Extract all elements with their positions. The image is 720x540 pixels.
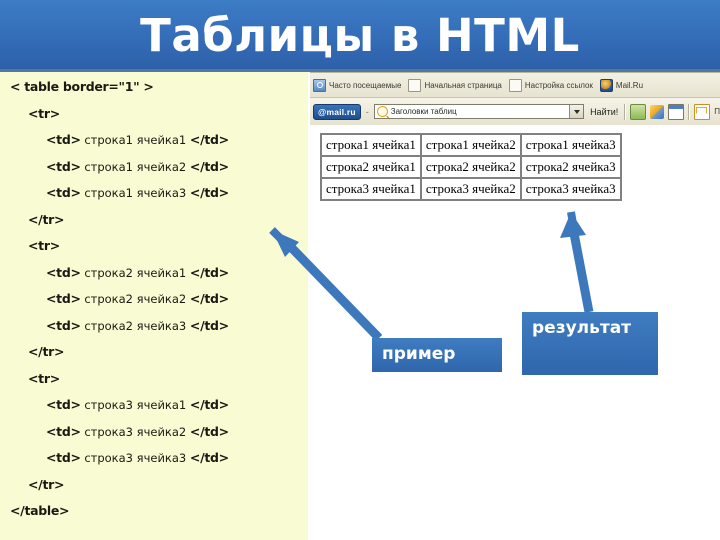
code-line: <td> строка1 ячейка1 </td> [0,133,308,147]
code-line: </tr> [0,213,308,227]
toolbar-divider [688,104,690,120]
code-line: </tr> [0,345,308,359]
code-line: <td> строка3 ячейка2 </td> [0,425,308,439]
code-text: строка1 ячейка3 [81,186,190,200]
code-tag: <td> [46,397,81,412]
page-title: Таблицы в HTML [0,3,720,69]
search-dropdown-button[interactable] [569,105,583,118]
code-tag-end: </td> [190,291,229,306]
chevron-down-icon [574,110,580,114]
table-cell: строка3 ячейка3 [521,178,621,200]
code-example-panel: < table border="1" ><tr><td> строка1 яче… [0,72,308,540]
bookmark-label: Начальная страница [424,81,501,90]
code-tag: <tr> [28,106,60,121]
callout-example: пример [372,338,502,372]
code-tag: <tr> [28,238,60,253]
search-toolbar[interactable]: @mail.ru - Заголовки таблиц Найти! П [310,98,720,125]
code-text: строка3 ячейка2 [81,425,190,439]
rendered-result-table: строка1 ячейка1строка1 ячейка2строка1 яч… [320,133,622,201]
code-tag: </tr> [28,477,64,492]
envelope-icon[interactable] [694,104,710,120]
code-line: <td> строка3 ячейка1 </td> [0,398,308,412]
code-tag: < table border="1" > [10,79,154,94]
toolbar-tail-label: П [714,107,720,116]
bookmark-item-frequent[interactable]: Часто посещаемые [313,79,401,92]
callout-result: результат [522,312,658,375]
table-body: строка1 ячейка1строка1 ячейка2строка1 яч… [321,134,621,200]
bookmark-item-mailru[interactable]: Mail.Ru [600,79,643,92]
bookmark-label: Mail.Ru [616,81,643,90]
toolbar-separator: - [365,107,370,117]
code-line: </tr> [0,478,308,492]
code-line: <td> строка2 ячейка1 </td> [0,266,308,280]
mailru-icon [600,79,613,92]
code-tag: <td> [46,318,81,333]
table-cell: строка2 ячейка2 [421,156,521,178]
table-row: строка3 ячейка1строка3 ячейка2строка3 яч… [321,178,621,200]
page-icon [408,79,421,92]
table-cell: строка3 ячейка1 [321,178,421,200]
code-tag: <td> [46,132,81,147]
table-cell: строка2 ячейка3 [521,156,621,178]
favorites-icon [313,79,326,92]
table-cell: строка1 ячейка1 [321,134,421,156]
arrow-to-result-table [560,212,589,312]
code-line: <td> строка2 ячейка3 </td> [0,319,308,333]
browser-toolbar-screenshot: Часто посещаемые Начальная страница Наст… [310,72,720,125]
slide-header: Таблицы в HTML [0,0,720,72]
code-tag: <td> [46,185,81,200]
search-input[interactable]: Заголовки таблиц [374,104,584,119]
code-line: <tr> [0,107,308,121]
code-text: строка2 ячейка2 [81,292,190,306]
code-line: <td> строка1 ячейка2 </td> [0,160,308,174]
code-tag-end: </td> [190,132,229,147]
code-tag-end: </td> [190,397,229,412]
code-text: строка1 ячейка2 [81,160,190,174]
code-line: <td> строка1 ячейка3 </td> [0,186,308,200]
bookmark-item-links-setup[interactable]: Настройка ссылок [509,79,593,92]
code-tag-end: </td> [190,424,229,439]
code-tag-end: </td> [190,318,229,333]
table-row: строка1 ячейка1строка1 ячейка2строка1 яч… [321,134,621,156]
code-tag: <td> [46,424,81,439]
pencil-icon[interactable] [650,105,664,119]
search-icon [377,106,388,117]
search-input-value: Заголовки таблиц [391,107,457,116]
page-icon [509,79,522,92]
table-cell: строка2 ячейка1 [321,156,421,178]
code-tag: </table> [10,503,69,518]
code-text: строка1 ячейка1 [81,133,190,147]
code-text: строка3 ячейка3 [81,451,190,465]
code-line: <tr> [0,372,308,386]
code-tag: <td> [46,265,81,280]
code-line: < table border="1" > [0,80,308,94]
find-button[interactable]: Найти! [588,107,620,117]
code-tag-end: </td> [190,159,229,174]
code-line: </table> [0,504,308,518]
bookmark-label: Настройка ссылок [525,81,593,90]
code-text: строка2 ячейка3 [81,319,190,333]
code-tag: <td> [46,450,81,465]
table-row: строка2 ячейка1строка2 ячейка2строка2 яч… [321,156,621,178]
code-line: <td> строка2 ячейка2 </td> [0,292,308,306]
code-tag: <td> [46,291,81,306]
code-tag: <td> [46,159,81,174]
window-icon[interactable] [668,104,684,120]
code-tag: </tr> [28,344,64,359]
table-cell: строка1 ячейка2 [421,134,521,156]
code-text: строка3 ячейка1 [81,398,190,412]
code-tag-end: </td> [190,265,229,280]
bookmark-label: Часто посещаемые [329,81,401,90]
code-text: строка2 ячейка1 [81,266,190,280]
code-tag-end: </td> [190,450,229,465]
mailru-logo-button[interactable]: @mail.ru [313,104,361,120]
bookmark-bar[interactable]: Часто посещаемые Начальная страница Наст… [310,73,720,98]
code-tag: <tr> [28,371,60,386]
code-line: <tr> [0,239,308,253]
highlight-icon[interactable] [630,104,646,120]
table-cell: строка3 ячейка2 [421,178,521,200]
code-tag-end: </td> [190,185,229,200]
table-cell: строка1 ячейка3 [521,134,621,156]
code-tag: </tr> [28,212,64,227]
code-line: <td> строка3 ячейка3 </td> [0,451,308,465]
toolbar-divider [624,104,626,120]
bookmark-item-homepage[interactable]: Начальная страница [408,79,501,92]
